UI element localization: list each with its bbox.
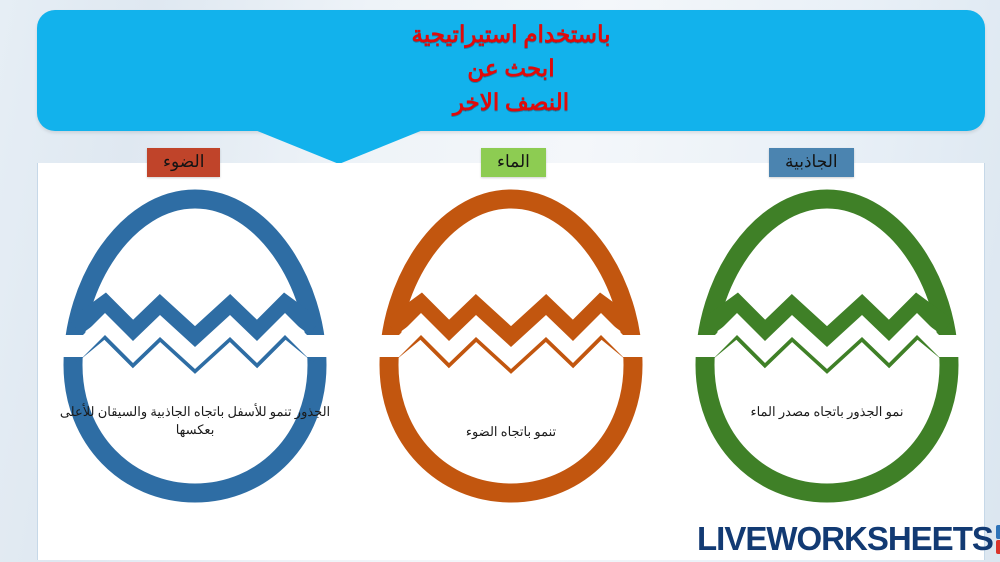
- cracked-egg-orange[interactable]: [361, 187, 661, 507]
- label-tag-gravity[interactable]: الجاذبية: [769, 148, 854, 177]
- egg-column-gravity: الجاذبية: [669, 145, 985, 545]
- label-tag-water[interactable]: الماء: [481, 148, 546, 177]
- title-line-1: باستخدام استيراتيجية: [37, 18, 985, 52]
- logo-block-e: E: [996, 540, 1000, 554]
- egg-crack-top: [75, 305, 315, 339]
- egg-caption-light: الجذور تنمو للأسفل باتجاه الجاذبية والسي…: [45, 403, 345, 439]
- worksheet-page: باستخدام استيراتيجية ابحث عن النصف الاخر…: [0, 0, 1000, 562]
- logo-blocks-icon: L I V E: [996, 525, 1000, 554]
- egg-caption-gravity: نمو الجذور باتجاه مصدر الماء: [677, 403, 977, 421]
- title-banner-text: باستخدام استيراتيجية ابحث عن النصف الاخر: [37, 18, 985, 120]
- title-line-3: النصف الاخر: [37, 86, 985, 120]
- logo-wordmark: LIVEWORKSHEETS: [697, 520, 993, 558]
- liveworksheets-logo[interactable]: L I V E LIVEWORKSHEETS: [697, 520, 1000, 558]
- title-line-2: ابحث عن: [37, 52, 985, 86]
- cracked-egg-green[interactable]: [677, 187, 977, 507]
- egg-column-light: الضوء: [37, 145, 353, 545]
- egg-crack-top: [707, 305, 947, 339]
- cracked-egg-blue[interactable]: [45, 187, 345, 507]
- egg-columns: الضوء: [37, 145, 985, 545]
- egg-crack-top: [391, 305, 631, 339]
- egg-column-water: الماء: [353, 145, 669, 545]
- label-tag-light[interactable]: الضوء: [147, 148, 220, 177]
- logo-block-i: I: [996, 525, 1000, 539]
- egg-caption-water: تنمو باتجاه الضوء: [361, 423, 661, 441]
